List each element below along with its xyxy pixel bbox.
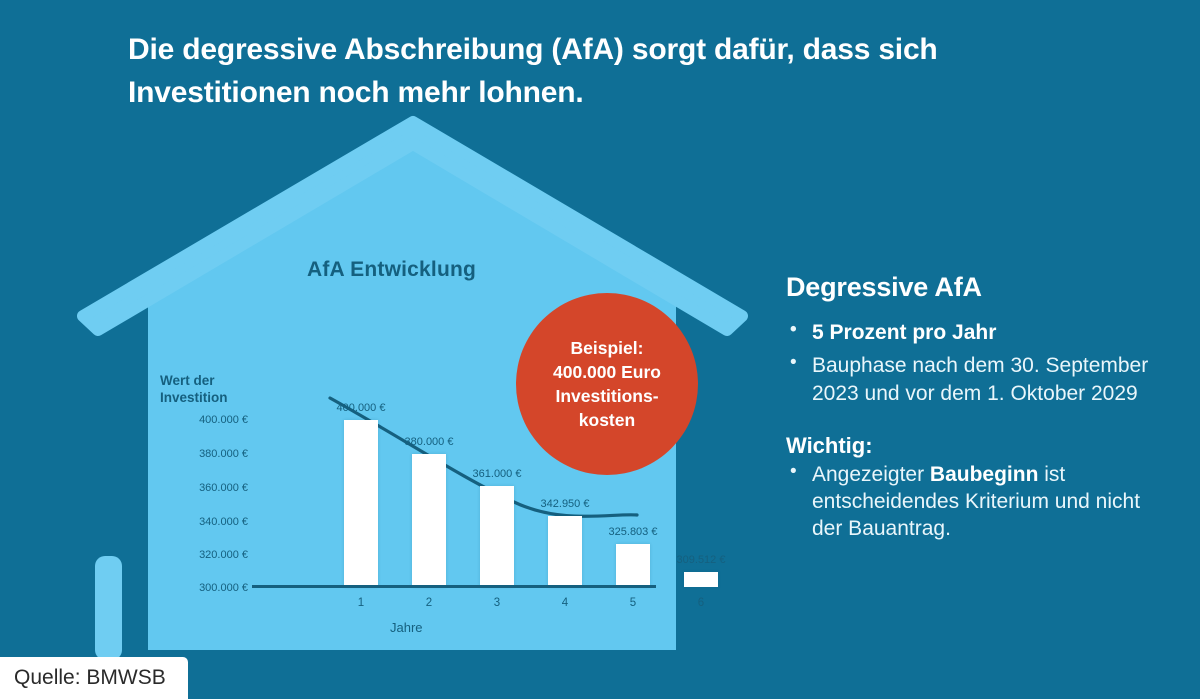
callout-line-2: 400.000 Euro (553, 360, 661, 384)
x-tick-label-2: 2 (426, 597, 432, 609)
bar-year-5 (616, 544, 650, 587)
y-tick-label: 400.000 € (156, 414, 248, 426)
bar-year-1 (344, 420, 378, 587)
important-bullet-emphasis: Baubeginn (930, 463, 1039, 486)
x-tick-label-1: 1 (358, 597, 364, 609)
important-bullet-pre: Angezeigter (812, 463, 930, 486)
bar-value-label-1: 400.000 € (337, 402, 386, 414)
x-axis-title: Jahre (390, 620, 423, 635)
important-block: Wichtig: Angezeigter Baubeginn ist entsc… (786, 433, 1176, 543)
bar-year-3 (480, 486, 514, 587)
x-tick-label-3: 3 (494, 597, 500, 609)
y-tick-label: 360.000 € (156, 482, 248, 494)
callout-text: Beispiel: 400.000 Euro Investitions- kos… (553, 336, 661, 433)
panel-bullet-rate: 5 Prozent pro Jahr (786, 319, 1176, 346)
panel-title: Degressive AfA (786, 272, 1176, 303)
source-caption: Quelle: BMWSB (0, 657, 188, 699)
important-bullet-list: Angezeigter Baubeginn ist entscheidendes… (786, 461, 1176, 543)
y-tick-label: 320.000 € (156, 549, 248, 561)
important-title: Wichtig: (786, 433, 1176, 459)
bar-value-label-6: 309.512 € (677, 554, 726, 566)
panel-bullet-list: 5 Prozent pro Jahr Bauphase nach dem 30.… (786, 319, 1176, 407)
example-callout-badge: Beispiel: 400.000 Euro Investitions- kos… (516, 293, 698, 475)
x-tick-label-4: 4 (562, 597, 568, 609)
y-axis-ticks: 400.000 € 380.000 € 360.000 € 340.000 € … (156, 360, 248, 645)
y-tick-label: 340.000 € (156, 516, 248, 528)
info-panel: Degressive AfA 5 Prozent pro Jahr Baupha… (786, 272, 1176, 543)
chart-title: AfA Entwicklung (307, 258, 476, 282)
chart-baseline (252, 585, 656, 588)
important-bullet-baubeginn: Angezeigter Baubeginn ist entscheidendes… (786, 461, 1176, 543)
bar-value-label-4: 342.950 € (541, 498, 590, 510)
callout-line-4: kosten (553, 408, 661, 432)
bar-value-label-2: 380.000 € (405, 436, 454, 448)
callout-line-3: Investitions- (553, 384, 661, 408)
y-tick-label: 380.000 € (156, 448, 248, 460)
bar-year-6 (684, 572, 718, 587)
bar-year-2 (412, 454, 446, 587)
panel-bullet-period: Bauphase nach dem 30. September 2023 und… (786, 352, 1176, 407)
x-tick-label-6: 6 (698, 597, 704, 609)
x-tick-label-5: 5 (630, 597, 636, 609)
bar-value-label-3: 361.000 € (473, 468, 522, 480)
chimney-shape (95, 556, 122, 660)
bar-value-label-5: 325.803 € (609, 526, 658, 538)
bar-year-4 (548, 516, 582, 587)
callout-line-1: Beispiel: (553, 336, 661, 360)
infographic-canvas: Die degressive Abschreibung (AfA) sorgt … (0, 0, 1200, 699)
y-tick-label: 300.000 € (156, 582, 248, 594)
